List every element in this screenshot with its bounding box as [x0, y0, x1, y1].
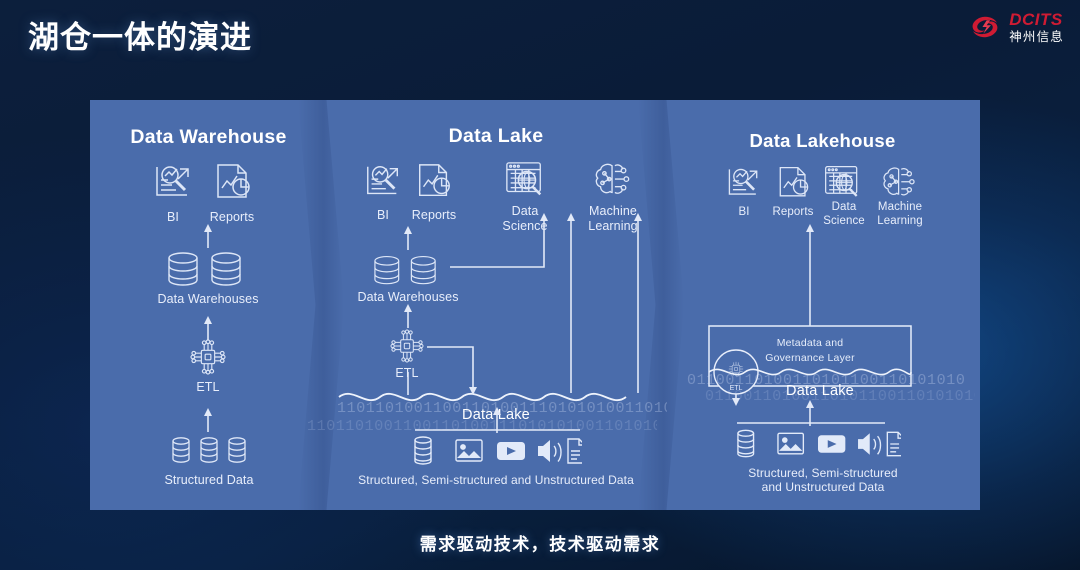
label-reports: Reports [192, 210, 272, 225]
label-etl: ETL [367, 366, 447, 381]
label-metadata-governance: Metadata and Governance Layer [730, 336, 890, 366]
label-sources: Structured, Semi-structured and Unstruct… [683, 466, 963, 494]
reports-icon [775, 165, 812, 202]
label-data-warehouses: Data Warehouses [118, 292, 298, 307]
document-icon [568, 439, 582, 463]
slide-header: 湖仓一体的演进 DCITS 神州信息 [0, 0, 1080, 70]
machine-learning-icon [592, 160, 634, 202]
label-machine-learning: Machine Learning [573, 204, 653, 234]
label-etl: ETL [168, 380, 248, 395]
audio-icon [538, 440, 561, 462]
page-title: 湖仓一体的演进 [28, 12, 252, 57]
panel-data-warehouse: Data Warehouse BI Reports [90, 100, 327, 510]
reports-icon [212, 162, 254, 204]
database-stack-icon [369, 252, 447, 290]
panel-data-lakehouse: Data Lakehouse BI Reports [665, 100, 980, 510]
bi-icon [152, 162, 194, 204]
dcits-swirl-icon [968, 12, 1002, 42]
machine-learning-icon [880, 164, 919, 203]
label-data-lake: Data Lake [740, 383, 900, 399]
panel-data-lake: Data Lake BI Reports [327, 100, 665, 510]
label-data-warehouses: Data Warehouses [318, 290, 498, 305]
reports-icon [414, 162, 454, 202]
label-machine-learning: Machine Learning [861, 201, 939, 228]
document-icon [887, 432, 901, 455]
etl-chip-icon [189, 338, 227, 376]
video-icon [818, 435, 845, 453]
label-data-science: Data Science [485, 204, 565, 234]
database-triple-icon [171, 435, 247, 469]
label-reports: Reports [394, 208, 474, 223]
database-stack-icon [162, 250, 254, 290]
label-structured-data: Structured Data [119, 473, 299, 488]
database-icon [738, 430, 754, 456]
video-icon [497, 442, 525, 460]
data-science-icon [823, 164, 862, 203]
bi-icon [725, 165, 762, 202]
database-icon [415, 437, 431, 464]
image-icon [456, 440, 482, 461]
logo-text-cn: 神州信息 [1009, 31, 1064, 44]
etl-chip-icon [389, 328, 425, 364]
logo-text-en: DCITS [1009, 11, 1064, 28]
footer-caption: 需求驱动技术，技术驱动需求 [0, 530, 1080, 555]
panel-title-data-lakehouse: Data Lakehouse [665, 130, 980, 152]
source-icons-row [412, 435, 582, 467]
bi-icon [363, 162, 403, 202]
label-data-lake: Data Lake [416, 407, 576, 423]
panel-title-data-warehouse: Data Warehouse [90, 126, 327, 149]
panel-title-data-lake: Data Lake [327, 125, 665, 148]
brand-logo: DCITS 神州信息 [968, 11, 1064, 44]
data-science-icon [504, 160, 546, 202]
image-icon [778, 433, 803, 454]
audio-icon [858, 433, 880, 454]
lakehouse-evolution-diagram: Data Warehouse BI Reports [90, 100, 980, 510]
label-sources: Structured, Semi-structured and Unstruct… [330, 473, 662, 487]
source-icons-row [735, 428, 901, 460]
